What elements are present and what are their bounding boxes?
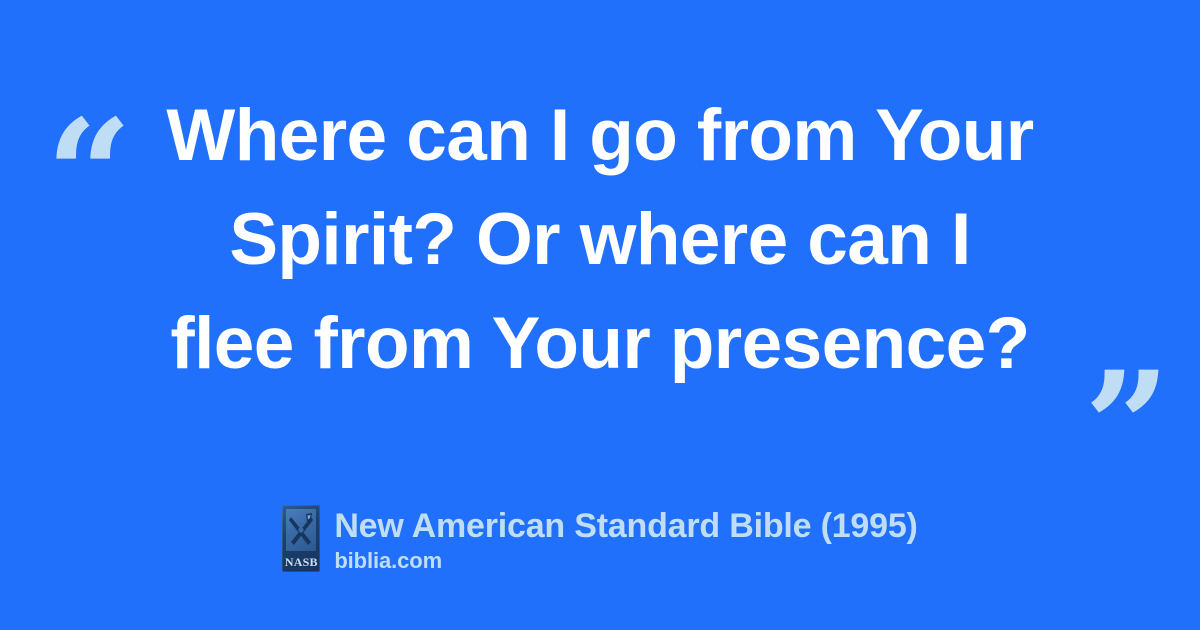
quote-line-2: Spirit? Or where can I <box>0 188 1200 292</box>
bible-version-title: New American Standard Bible (1995) <box>334 505 917 547</box>
quote-line-3: flee from Your presence? <box>0 292 1200 396</box>
close-quote-mark-icon: ” <box>1084 352 1166 502</box>
attribution-inner: NASB New American Standard Bible (1995) … <box>282 505 917 575</box>
attribution-text: New American Standard Bible (1995) bibli… <box>334 505 917 575</box>
nasb-sword-mark-icon <box>286 509 316 551</box>
quote-region: “ Where can I go from Your Spirit? Or wh… <box>0 84 1200 414</box>
nasb-logo-icon: NASB <box>282 505 320 572</box>
verse-quote-card: “ Where can I go from Your Spirit? Or wh… <box>0 0 1200 630</box>
attribution-block: NASB New American Standard Bible (1995) … <box>0 505 1200 575</box>
nasb-logo-label: NASB <box>282 555 320 569</box>
source-site-label: biblia.com <box>334 547 917 575</box>
quote-line-1: Where can I go from Your <box>0 84 1200 188</box>
quote-text: Where can I go from Your Spirit? Or wher… <box>0 84 1200 396</box>
